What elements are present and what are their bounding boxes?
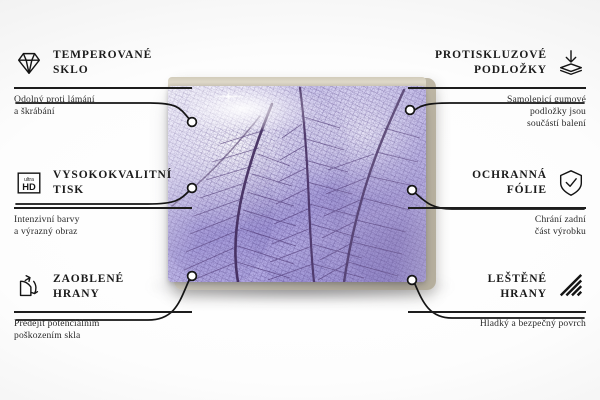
divider	[408, 207, 586, 209]
feature-title-line1: OCHRANNÁ	[472, 169, 547, 181]
feature-rounded-edges[interactable]: ZAOBLENÉ HRANY Předejít potenciálním poš…	[14, 268, 192, 342]
feature-header: OCHRANNÁ FÓLIE	[408, 164, 586, 202]
feature-title-line2: PODLOŽKY	[474, 64, 547, 76]
feature-title: ZAOBLENÉ HRANY	[53, 272, 124, 302]
divider	[14, 207, 192, 209]
svg-text:HD: HD	[22, 182, 36, 192]
feature-sub-line2: a výrazný obraz	[14, 226, 78, 237]
divider	[14, 87, 192, 89]
feature-subtitle: Intenzivní barvy a výrazný obraz	[14, 214, 192, 239]
feature-sub-line1: Předejít potenciálním	[14, 318, 99, 329]
feature-title-line2: FÓLIE	[507, 184, 547, 196]
feature-title-line1: LEŠTĚNÉ	[488, 273, 547, 285]
feature-subtitle: Samolepicí gumové podložky jsou součástí…	[408, 94, 586, 131]
feature-sub-line1: Chrání zadní	[535, 214, 586, 225]
feature-title-line2: HRANY	[53, 288, 100, 300]
feature-title-line2: SKLO	[53, 64, 89, 76]
feature-polished-edges[interactable]: LEŠTĚNÉ HRANY Hladký a bezpečný povrch	[408, 268, 586, 330]
feature-sub-line2: a škrábání	[14, 106, 55, 117]
feature-header: ZAOBLENÉ HRANY	[14, 268, 192, 306]
feature-title: PROTISKLUZOVÉ PODLOŽKY	[435, 48, 547, 78]
diamond-icon	[14, 48, 44, 78]
ultra-hd-icon: ultra HD	[14, 168, 44, 198]
glass-panel	[168, 86, 426, 282]
feature-sub-line2: podložky jsou	[530, 106, 586, 117]
product-image	[168, 86, 434, 282]
feature-sub-line1: Intenzivní barvy	[14, 214, 80, 225]
divider	[408, 311, 586, 313]
divider	[14, 311, 192, 313]
feature-header: TEMPEROVANÉ SKLO	[14, 44, 192, 82]
feature-sub-line3: součástí balení	[527, 118, 586, 129]
feature-sub-line2: poškozením skla	[14, 330, 80, 341]
feature-subtitle: Chrání zadní část výrobku	[408, 214, 586, 239]
feature-title: VYSOKOKVALITNÍ TISK	[53, 168, 172, 198]
feature-sub-line1: Hladký a bezpečný povrch	[480, 318, 586, 329]
feature-subtitle: Předejít potenciálním poškozením skla	[14, 318, 192, 343]
leaf-artwork	[168, 86, 426, 282]
feature-sub-line1: Samolepicí gumové	[507, 94, 586, 105]
feature-sub-line1: Odolný proti lámání	[14, 94, 95, 105]
infographic-canvas: TEMPEROVANÉ SKLO Odolný proti lámání a š…	[0, 0, 600, 400]
feature-header: LEŠTĚNÉ HRANY	[408, 268, 586, 306]
divider	[408, 87, 586, 89]
feature-header: PROTISKLUZOVÉ PODLOŽKY	[408, 44, 586, 82]
feature-header: ultra HD VYSOKOKVALITNÍ TISK	[14, 164, 192, 202]
feature-title: TEMPEROVANÉ SKLO	[53, 48, 152, 78]
feature-title-line1: TEMPEROVANÉ	[53, 49, 152, 61]
feature-title: OCHRANNÁ FÓLIE	[472, 168, 547, 198]
feature-sub-line2: část výrobku	[535, 226, 586, 237]
feature-high-quality-print[interactable]: ultra HD VYSOKOKVALITNÍ TISK Intenzivní …	[14, 164, 192, 238]
feature-title: LEŠTĚNÉ HRANY	[488, 272, 547, 302]
feature-title-line1: VYSOKOKVALITNÍ	[53, 169, 172, 181]
diagonal-stripes-icon	[556, 272, 586, 302]
feature-title-line1: ZAOBLENÉ	[53, 273, 124, 285]
feature-protective-film[interactable]: OCHRANNÁ FÓLIE Chrání zadní část výrobku	[408, 164, 586, 238]
feature-title-line1: PROTISKLUZOVÉ	[435, 49, 547, 61]
rounded-corner-icon	[14, 272, 44, 302]
arrow-down-pad-icon	[556, 48, 586, 78]
feature-anti-slip-pads[interactable]: PROTISKLUZOVÉ PODLOŽKY Samolepicí gumové…	[408, 44, 586, 131]
feature-tempered-glass[interactable]: TEMPEROVANÉ SKLO Odolný proti lámání a š…	[14, 44, 192, 118]
feature-title-line2: TISK	[53, 184, 84, 196]
feature-title-line2: HRANY	[500, 288, 547, 300]
feature-subtitle: Odolný proti lámání a škrábání	[14, 94, 192, 119]
feature-subtitle: Hladký a bezpečný povrch	[408, 318, 586, 330]
shield-check-icon	[556, 168, 586, 198]
